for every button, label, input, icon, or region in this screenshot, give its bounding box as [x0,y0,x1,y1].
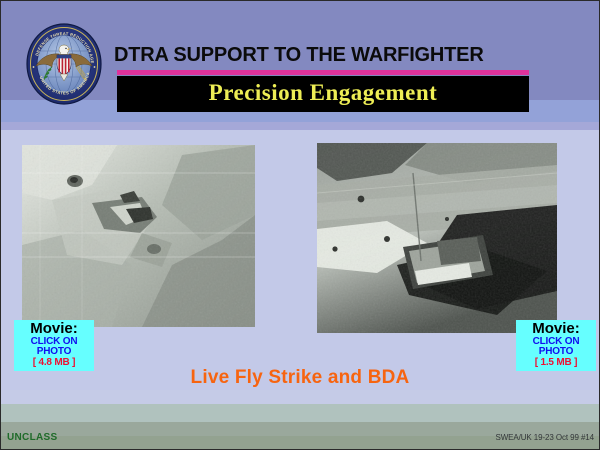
movie-callout-left-title: Movie: [18,321,90,337]
classification-marking: UNCLASS [7,432,57,443]
slide-reference-footer: SWEA/UK 19-23 Oct 99 #14 [495,433,594,442]
background-band-transition [0,122,600,130]
dtra-seal-icon: DEFENSE THREAT REDUCTION AGENCY UNITED S… [26,23,102,105]
page-title: DTRA SUPPORT TO THE WARFIGHTER [114,44,530,67]
presentation-slide: DEFENSE THREAT REDUCTION AGENCY UNITED S… [0,0,600,450]
background-band-footer-1 [0,390,600,404]
title-underline-rule [117,70,529,75]
movie-callout-left[interactable]: Movie: CLICK ON PHOTO [ 4.8 MB ] [14,320,94,371]
aerial-target-photo-right[interactable] [317,143,557,333]
slide-caption: Live Fly Strike and BDA [0,367,600,389]
aerial-target-photo-left[interactable] [22,145,255,327]
movie-callout-right-title: Movie: [520,321,592,337]
subtitle-text: Precision Engagement [117,80,529,106]
movie-callout-right[interactable]: Movie: CLICK ON PHOTO [ 1.5 MB ] [516,320,596,371]
background-band-footer-2 [0,404,600,422]
